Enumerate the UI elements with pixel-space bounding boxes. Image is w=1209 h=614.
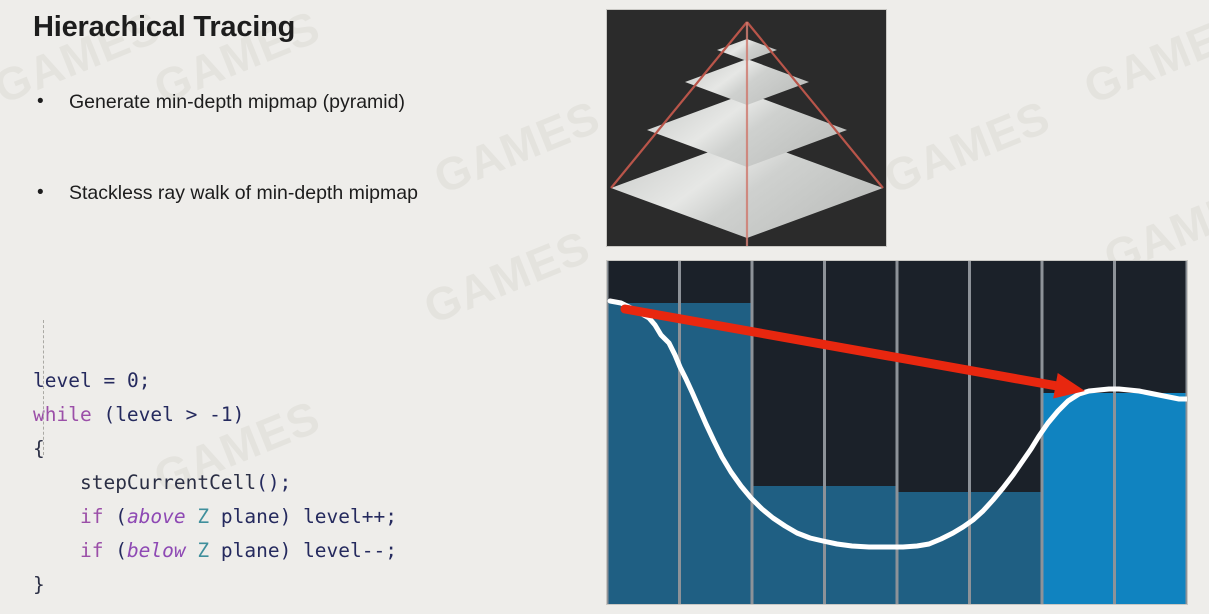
min-depth-cell-fill-1 [680, 303, 753, 605]
code-token: ( [92, 403, 115, 426]
watermark-text: GAMES [1076, 0, 1209, 115]
code-token [33, 539, 80, 562]
code-token: plane) [209, 505, 303, 528]
code-token: ) [233, 403, 245, 426]
code-token: level++; [303, 505, 397, 528]
code-token: -1 [209, 403, 232, 426]
code-token: } [33, 573, 45, 596]
min-depth-cell-fill-0 [607, 303, 680, 605]
bullet-marker-icon: • [33, 88, 69, 116]
code-line: if (above Z plane) level++; [33, 500, 397, 534]
bullet-list: • Generate min-depth mipmap (pyramid) • … [33, 88, 563, 207]
code-token: level--; [303, 539, 397, 562]
code-line: while (level > -1) [33, 398, 397, 432]
watermark-text: GAMES [876, 89, 1057, 204]
min-depth-cell-fill-6 [1042, 393, 1115, 605]
code-token: = [92, 369, 127, 392]
code-line: stepCurrentCell(); [33, 466, 397, 500]
code-line: level = 0; [33, 364, 397, 398]
code-token: (); [256, 471, 291, 494]
pyramid-outline [611, 22, 883, 247]
code-token: ( [103, 539, 126, 562]
bullet-marker-icon: • [33, 179, 69, 207]
indent-guide-line [43, 320, 44, 455]
list-item: • Stackless ray walk of min-depth mipmap [33, 179, 563, 207]
code-token [33, 471, 80, 494]
code-token [186, 539, 198, 562]
min-depth-cell-fill-5 [970, 492, 1043, 605]
code-token: level [33, 369, 92, 392]
code-token: below [127, 539, 186, 562]
code-token [186, 505, 198, 528]
mipmap-pyramid-figure [606, 9, 887, 247]
page-title: Hierachical Tracing [33, 11, 295, 44]
code-token: stepCurrentCell [80, 471, 256, 494]
cross-section-svg [607, 261, 1188, 605]
list-item: • Generate min-depth mipmap (pyramid) [33, 88, 563, 116]
code-token: if [80, 505, 103, 528]
code-token: if [80, 539, 103, 562]
code-token: while [33, 403, 92, 426]
code-token: above [127, 505, 186, 528]
code-token: > [174, 403, 209, 426]
code-token [33, 505, 80, 528]
code-block: level = 0;while (level > -1){ stepCurren… [33, 296, 397, 602]
code-token: ; [139, 369, 151, 392]
code-token: Z [197, 539, 209, 562]
bullet-text: Stackless ray walk of min-depth mipmap [69, 179, 418, 207]
code-token: Z [197, 505, 209, 528]
code-token: level [115, 403, 174, 426]
code-line: if (below Z plane) level--; [33, 534, 397, 568]
code-line: } [33, 568, 397, 602]
code-token: ( [103, 505, 126, 528]
pyramid-svg [607, 10, 887, 247]
code-line: { [33, 432, 397, 466]
code-token: 0 [127, 369, 139, 392]
watermark-text: GAMES [416, 219, 597, 334]
min-depth-cell-fill-7 [1115, 393, 1188, 605]
bullet-text: Generate min-depth mipmap (pyramid) [69, 88, 405, 116]
min-depth-cell-fill-2 [752, 486, 825, 605]
mipmap-cross-section-figure [606, 260, 1188, 605]
code-token: plane) [209, 539, 303, 562]
